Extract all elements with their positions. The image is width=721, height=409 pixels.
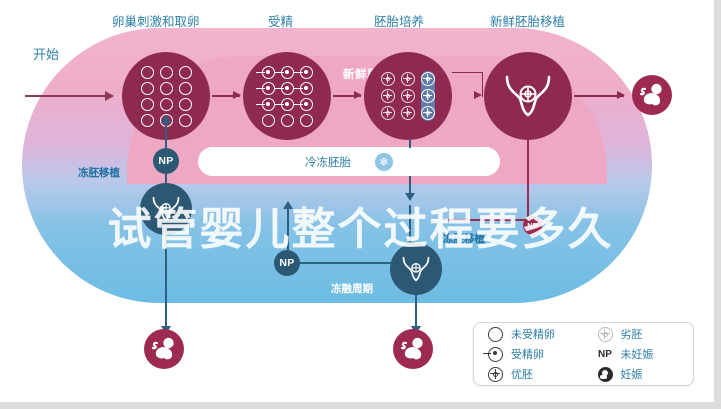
egg-icon [262, 114, 275, 127]
poor-embryo-icon [598, 327, 613, 342]
embryo-icon [401, 89, 415, 103]
arrow-bottom-uterus-to-baby [415, 295, 417, 327]
embryo-grid [364, 52, 452, 140]
egg-icon [179, 98, 192, 111]
legend-item: 妊娠 [584, 364, 694, 384]
frozen-transfer-uterus-left [140, 183, 192, 235]
arrow-frozen-down-to-uterus [409, 205, 411, 243]
good-embryo-icon [421, 106, 435, 120]
start-arrow-icon [25, 95, 113, 97]
frozen-transfer-uterus-bottom [390, 243, 442, 295]
legend-item: NP 未妊娠 [584, 344, 694, 364]
label-frozen-transfer-left: 冻胚移植 [78, 165, 120, 180]
egg-icon [160, 82, 173, 95]
fertilized-egg-icon [262, 82, 275, 95]
legend-label: 未受精卵 [511, 326, 555, 342]
egg-icon [141, 98, 154, 111]
np-badge-red: NP [523, 216, 542, 235]
line-np-bottom-to-uterus [300, 262, 392, 264]
fertilized-egg-icon [281, 98, 294, 111]
good-embryo-icon [488, 367, 503, 382]
legend-box: 未受精卵 劣胚 受精卵 NP 未妊娠 优胚 妊娠 [473, 322, 694, 386]
uterus-icon [501, 69, 555, 123]
np-badge-bottom: NP [274, 250, 300, 276]
fertilized-egg-icon [281, 66, 294, 79]
fertilized-egg-icon [300, 66, 313, 79]
good-embryo-icon [421, 89, 435, 103]
stage-circle-embryo-culture [364, 52, 452, 140]
start-label: 开始 [33, 44, 59, 63]
pregnancy-baby-icon-bottom-left [144, 329, 184, 369]
arrow-frozen-to-thaw [409, 176, 411, 194]
arrow-fertilization-to-culture [333, 95, 361, 97]
egg-icon [300, 114, 313, 127]
egg-icon [281, 114, 294, 127]
egg-icon [141, 114, 154, 127]
uterus-icon [150, 193, 182, 225]
stage-circle-fresh-transfer [484, 52, 572, 140]
frozen-embryo-bar: 冷冻胚胎 ❄ [198, 147, 500, 176]
empty-egg-icon [488, 327, 503, 342]
fertilized-egg-icon [488, 347, 503, 362]
snowflake-icon: ❄ [375, 153, 393, 171]
fertilized-egg-icon [281, 82, 294, 95]
label-frozen-transfer-right: 冻胚移植 [443, 231, 485, 246]
slide-edge-bottom [0, 402, 721, 409]
legend-label: 优胚 [511, 366, 533, 382]
line-culture-to-frozen [409, 140, 411, 148]
egg-icon [141, 82, 154, 95]
embryo-icon [381, 89, 395, 103]
frozen-embryo-label: 冷冻胚胎 [305, 154, 351, 170]
fertilized-egg-icon [262, 66, 275, 79]
uterus-icon [400, 253, 432, 285]
fertilized-egg-icon [300, 82, 313, 95]
arrow-retrieval-to-fertilization [212, 95, 240, 97]
line-np-red-horizontal [443, 219, 527, 221]
embryo-icon [381, 106, 395, 120]
pregnancy-icon [598, 367, 613, 382]
legend-label: 劣胚 [621, 326, 643, 342]
line-fresh-transfer-down [527, 140, 529, 220]
legend-label: 妊娠 [621, 366, 643, 382]
egg-icon [160, 98, 173, 111]
stage-circle-fertilization [243, 52, 331, 140]
slide-edge-right [714, 0, 721, 409]
np-badge-left: NP [153, 148, 179, 174]
legend-label: 受精卵 [511, 346, 544, 362]
legend-label: 未妊娠 [621, 346, 654, 362]
arrow-up-from-np-bottom [287, 208, 289, 250]
legend-item: 未受精卵 [474, 324, 584, 344]
pregnancy-baby-icon-bottom-right [393, 329, 433, 369]
legend-item: 优胚 [474, 364, 584, 384]
embryo-icon [401, 72, 415, 86]
legend-item: 劣胚 [584, 324, 694, 344]
egg-icon [141, 66, 154, 79]
egg-icon [179, 82, 192, 95]
slide-canvas: 卵巢刺激和取卵 受精 胚胎培养 新鲜胚胎移植 新鲜周期 开始 [0, 0, 721, 409]
arrow-transfer-to-pregnancy [574, 95, 624, 97]
legend-item: 受精卵 [474, 344, 584, 364]
np-text-icon: NP [598, 347, 613, 362]
selected-embryo-column [421, 71, 435, 121]
fertilized-egg-grid [243, 52, 331, 140]
arrow-left-uterus-to-baby [165, 235, 167, 327]
good-embryo-icon [421, 72, 435, 86]
egg-icon [179, 66, 192, 79]
fertilized-egg-icon [262, 98, 275, 111]
fertilized-egg-icon [300, 98, 313, 111]
embryo-icon [401, 106, 415, 120]
embryo-icon [381, 72, 395, 86]
pregnancy-baby-icon [632, 75, 672, 115]
arrow-up-to-np-left [165, 122, 167, 148]
egg-icon [179, 114, 192, 127]
egg-icon [160, 66, 173, 79]
label-frozen-thaw-cycle: 冻融周期 [331, 281, 373, 296]
